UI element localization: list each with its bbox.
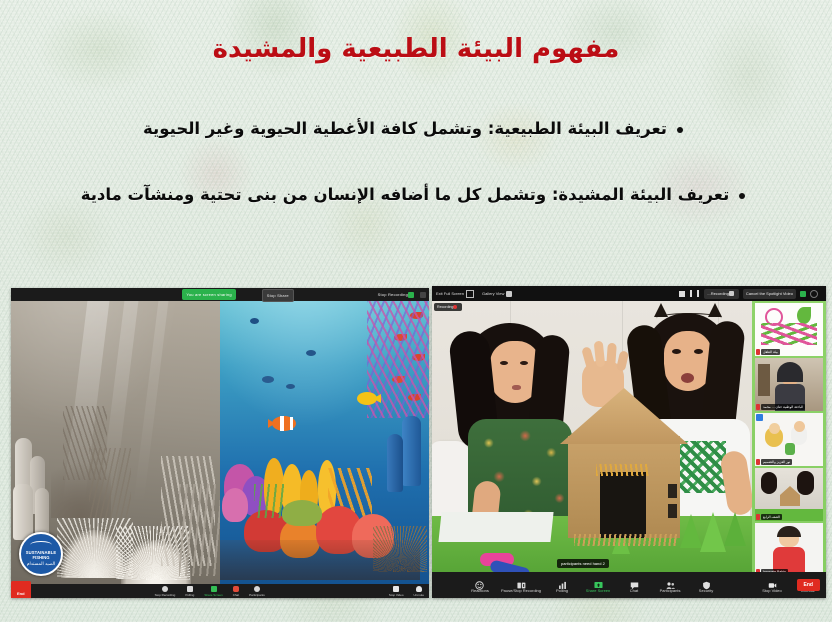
- children-presentation-meeting: Cancel the Spotlight Video Recording... …: [432, 286, 826, 598]
- bullet-dot-icon: [739, 193, 745, 199]
- video-off-icon: [756, 414, 763, 421]
- sidebar-thumbnail[interactable]: نور العزيز والتصميم: [755, 413, 823, 466]
- participants-icon: [666, 577, 675, 586]
- share-screen-icon: [211, 586, 217, 592]
- polling-icon: [187, 586, 193, 592]
- straw-thatch: [596, 464, 650, 476]
- sidebar-thumbnail[interactable]: بيئة الطفل: [755, 303, 823, 356]
- polling-button[interactable]: Polling: [547, 577, 577, 593]
- encryption-icon[interactable]: [800, 291, 806, 297]
- video-icon[interactable]: [420, 292, 426, 298]
- stage-participant-name: 2 participants need hand: [557, 559, 609, 568]
- record-dot-icon: [453, 305, 457, 309]
- microphone-icon: [416, 586, 422, 592]
- stop-icon[interactable]: [679, 291, 685, 297]
- exit-fullscreen-button[interactable]: Exit Full Screen: [436, 290, 477, 298]
- right-zoom-toolbar: Unmute Stop Video Security: [432, 572, 826, 598]
- bullet-text-1: تعريف البيئة الطبيعية: وتشمل كافة الأغطي…: [143, 118, 667, 140]
- end-meeting-button[interactable]: End: [797, 579, 820, 591]
- chat-button[interactable]: Chat: [619, 577, 649, 593]
- record-icon: [517, 577, 526, 586]
- screen-share-banner: You are screen sharing: [182, 289, 235, 300]
- pause-icon[interactable]: [690, 290, 699, 297]
- gallery-view-button[interactable]: Gallery View: [482, 291, 515, 297]
- grid-icon: [506, 291, 512, 297]
- chat-button[interactable]: Chat: [233, 586, 239, 597]
- stop-video-button[interactable]: Stop Video: [757, 577, 787, 593]
- right-participant-sidebar: بيئة الطفل الباحثة الوطنية حنان ... محمد: [752, 301, 826, 572]
- participants-icon: [254, 586, 260, 592]
- shield-icon: [702, 577, 711, 586]
- chat-icon: [233, 586, 239, 592]
- sidebar-thumbnail[interactable]: الباحثة الوطنية حنان ... محمد: [755, 358, 823, 411]
- sustainable-fishing-logo: SUSTAINABLE FISHING الصيد المستدام: [19, 532, 63, 576]
- bullet-text-2: تعريف البيئة المشيدة: وتشمل كل ما أضافه …: [81, 184, 730, 206]
- camera-icon: [768, 577, 777, 586]
- end-meeting-button[interactable]: End: [11, 581, 31, 598]
- polling-icon: [558, 577, 567, 586]
- reactions-icon: [475, 577, 484, 586]
- participants-button[interactable]: Participants: [655, 577, 685, 593]
- recording-tag: Recording: [434, 303, 462, 311]
- main-video-stage[interactable]: 2 participants need hand: [432, 301, 752, 572]
- stop-recording-button[interactable]: Stop Recording: [155, 586, 176, 597]
- sidebar-thumbnail[interactable]: الصف الرابع: [755, 468, 823, 521]
- reactions-button[interactable]: Reactions: [465, 577, 495, 593]
- info-icon[interactable]: [810, 290, 818, 298]
- bullet-dot-icon: [677, 127, 683, 133]
- cancel-spotlight-button[interactable]: Cancel the Spotlight Video: [743, 289, 796, 299]
- share-screen-button[interactable]: Share Screen: [583, 577, 613, 593]
- share-screen-button[interactable]: Share Screen: [204, 586, 222, 597]
- recording-status[interactable]: Recording...: [704, 289, 739, 299]
- left-zoom-toolbar: Unmute Stop Video Participants Chat: [11, 584, 429, 598]
- stop-video-button[interactable]: Stop Video: [389, 586, 404, 597]
- pause-stop-recording-button[interactable]: Pause/Stop Recording: [501, 577, 541, 593]
- healthy-reef-half: [220, 288, 429, 598]
- record-icon: [729, 291, 734, 296]
- left-screenshot-image: Stop Recording You are screen sharing St…: [11, 288, 429, 598]
- right-screenshot-image: Cancel the Spotlight Video Recording... …: [432, 286, 826, 598]
- bullet-item-2: تعريف البيئة المشيدة: وتشمل كل ما أضافه …: [30, 184, 802, 206]
- share-screen-icon: [594, 577, 603, 586]
- unmute-button[interactable]: Unmute: [413, 586, 424, 597]
- right-zoom-topbar: Cancel the Spotlight Video Recording... …: [432, 286, 826, 301]
- fish-icon: [30, 541, 52, 549]
- stop-share-button[interactable]: Stop Share: [262, 289, 294, 302]
- chat-icon: [630, 577, 639, 586]
- coral-reef-comparison: Stop Recording You are screen sharing St…: [11, 288, 429, 598]
- page-title: مفهوم البيئة الطبيعية والمشيدة: [0, 34, 832, 64]
- record-indicator-icon[interactable]: [408, 292, 414, 298]
- polling-button[interactable]: Polling: [185, 586, 194, 597]
- left-recording-label: Stop Recording: [378, 292, 408, 297]
- camera-icon: [393, 586, 399, 592]
- sidebar-thumbnail[interactable]: Innovate Bahig: [755, 523, 823, 572]
- fullscreen-exit-icon: [466, 290, 474, 298]
- house-doorway: [600, 472, 646, 538]
- security-button[interactable]: Security: [691, 577, 721, 593]
- record-icon: [162, 586, 168, 592]
- participants-button[interactable]: Participants: [249, 586, 265, 597]
- presentation-slide: مفهوم البيئة الطبيعية والمشيدة تعريف الب…: [0, 0, 832, 622]
- bullet-item-1: تعريف البيئة الطبيعية: وتشمل كافة الأغطي…: [30, 118, 802, 140]
